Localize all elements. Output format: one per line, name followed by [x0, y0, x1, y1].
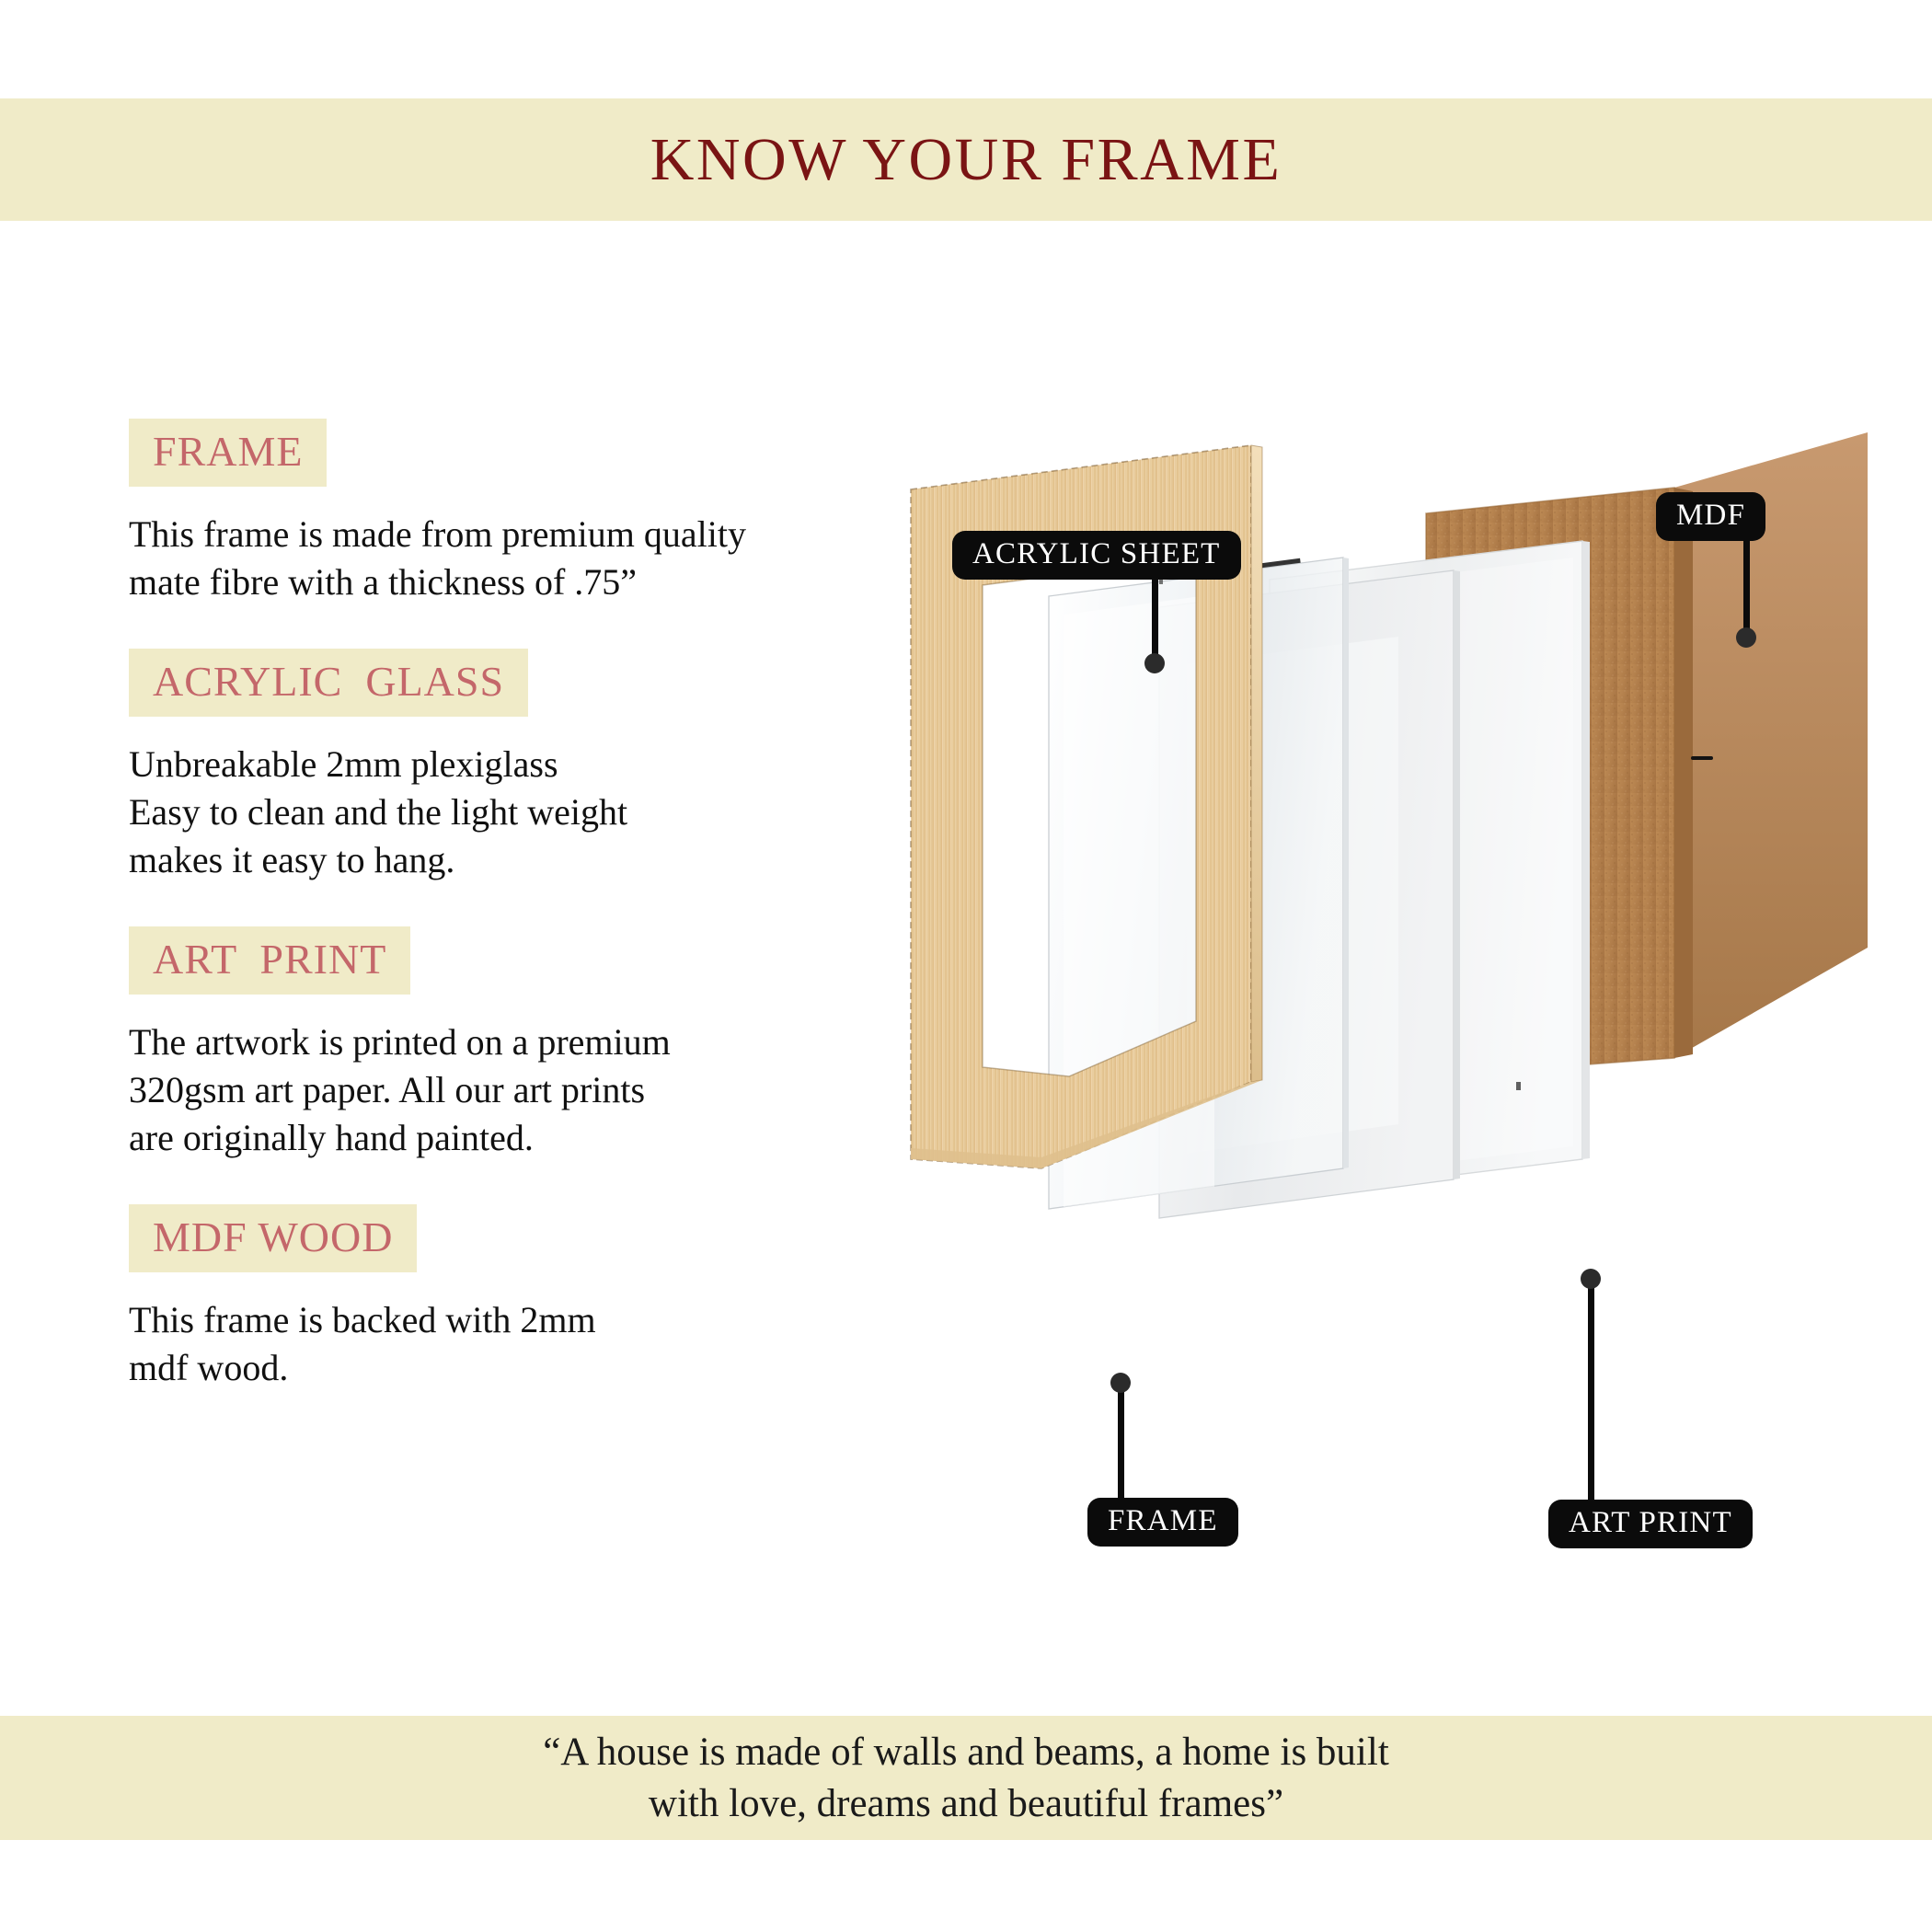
- exploded-frame-diagram: [883, 432, 1914, 1628]
- spec-heading-mdf-wood: MDF WOOD: [129, 1204, 417, 1272]
- header-band: KNOW YOUR FRAME: [0, 98, 1932, 221]
- leader-line-frame: [1118, 1380, 1124, 1501]
- leader-dot-acrylic-sheet: [1144, 653, 1165, 673]
- spec-body-frame: This frame is made from premium quality …: [129, 511, 892, 606]
- leader-line-acrylic-sheet: [1152, 573, 1158, 663]
- spec-block-acrylic-glass: ACRYLIC GLASS Unbreakable 2mm plexiglass…: [129, 649, 892, 884]
- callout-acrylic-sheet[interactable]: ACRYLIC SHEET: [952, 531, 1241, 580]
- leader-dot-mdf: [1736, 627, 1756, 648]
- spec-list: FRAME This frame is made from premium qu…: [129, 419, 892, 1392]
- spec-block-art-print: ART PRINT The artwork is printed on a pr…: [129, 926, 892, 1162]
- spec-body-mdf-wood: This frame is backed with 2mm mdf wood.: [129, 1296, 892, 1392]
- spec-heading-art-print: ART PRINT: [129, 926, 410, 995]
- callout-art-print[interactable]: ART PRINT: [1548, 1500, 1753, 1548]
- quote-line-2: with love, dreams and beautiful frames”: [649, 1778, 1283, 1830]
- callout-mdf[interactable]: MDF: [1656, 492, 1765, 541]
- leader-dot-frame: [1110, 1373, 1131, 1393]
- callout-frame[interactable]: FRAME: [1087, 1498, 1238, 1547]
- leader-line-mdf: [1743, 537, 1750, 637]
- spec-heading-acrylic-glass: ACRYLIC GLASS: [129, 649, 528, 717]
- leader-line-art-print: [1588, 1276, 1594, 1501]
- exploded-assembly-illustration: [883, 432, 1914, 1628]
- quote-line-1: “A house is made of walls and beams, a h…: [543, 1727, 1389, 1778]
- spec-body-art-print: The artwork is printed on a premium 320g…: [129, 1018, 892, 1162]
- spec-body-acrylic-glass: Unbreakable 2mm plexiglass Easy to clean…: [129, 741, 892, 884]
- spec-heading-frame: FRAME: [129, 419, 327, 487]
- footer-quote-band: “A house is made of walls and beams, a h…: [0, 1716, 1932, 1840]
- leader-dot-art-print: [1581, 1269, 1601, 1289]
- spec-block-mdf-wood: MDF WOOD This frame is backed with 2mm m…: [129, 1204, 892, 1392]
- spec-block-frame: FRAME This frame is made from premium qu…: [129, 419, 892, 606]
- page-title: KNOW YOUR FRAME: [650, 130, 1282, 190]
- infographic-page: KNOW YOUR FRAME FRAME This frame is made…: [0, 0, 1932, 1932]
